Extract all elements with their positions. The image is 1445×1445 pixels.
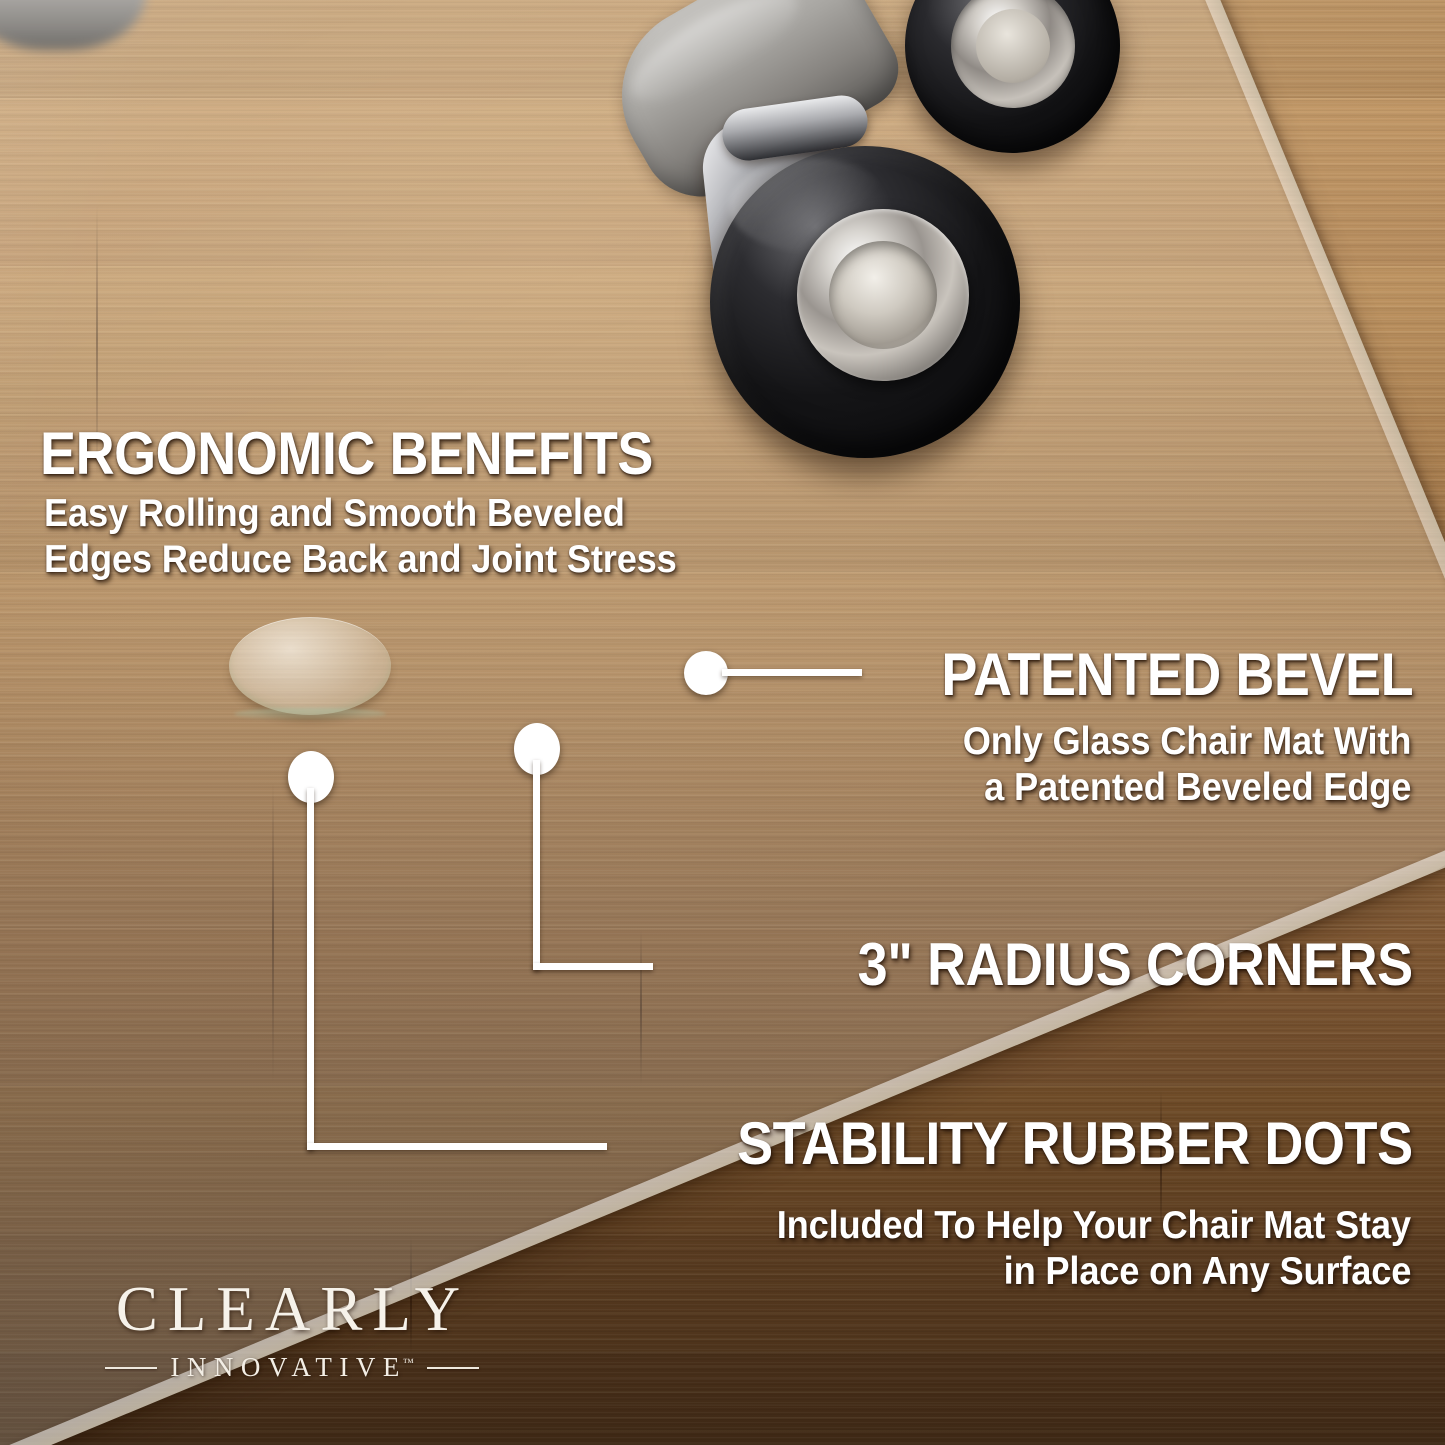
callout-subtext-bevel-line2: a Patented Beveled Edge: [984, 764, 1411, 812]
callout-subtext-stability-line2: in Place on Any Surface: [1003, 1248, 1411, 1296]
trademark-symbol: ™: [403, 1357, 414, 1369]
callout-subtext-bevel-line1: Only Glass Chair Mat With: [963, 718, 1411, 766]
callout-subtext-ergonomic-line2: Edges Reduce Back and Joint Stress: [44, 536, 677, 584]
callout-heading-stability-rubber-dots: STABILITY RUBBER DOTS: [737, 1114, 1413, 1174]
callout-line-stability-vertical: [307, 788, 314, 1150]
logo-rule-left: [105, 1367, 157, 1369]
caster-wheel-front: [700, 118, 1065, 458]
callout-subtext-stability-line1: Included To Help Your Chair Mat Stay: [777, 1202, 1411, 1250]
callout-line-radius-horizontal: [533, 963, 653, 970]
brand-tagline-text: INNOVATIVE: [170, 1352, 407, 1382]
logo-rule-right: [427, 1367, 479, 1369]
callout-line-radius-vertical: [533, 760, 540, 970]
callout-heading-radius-corners: 3" RADIUS CORNERS: [858, 935, 1413, 995]
callout-subtext-ergonomic-line1: Easy Rolling and Smooth Beveled: [44, 490, 625, 538]
brand-logo: CLEARLY INNOVATIVE™: [78, 1278, 498, 1383]
brand-tagline: INNOVATIVE™: [170, 1352, 413, 1383]
callout-line-patented-bevel: [722, 669, 862, 676]
brand-name: CLEARLY: [78, 1278, 498, 1341]
callout-heading-patented-bevel: PATENTED BEVEL: [941, 645, 1413, 705]
callout-line-stability-horizontal: [307, 1143, 607, 1150]
product-feature-image: ERGONOMIC BENEFITS Easy Rolling and Smoo…: [0, 0, 1445, 1445]
rubber-dot: [229, 617, 391, 715]
callout-heading-ergonomic-benefits: ERGONOMIC BENEFITS: [40, 424, 653, 484]
